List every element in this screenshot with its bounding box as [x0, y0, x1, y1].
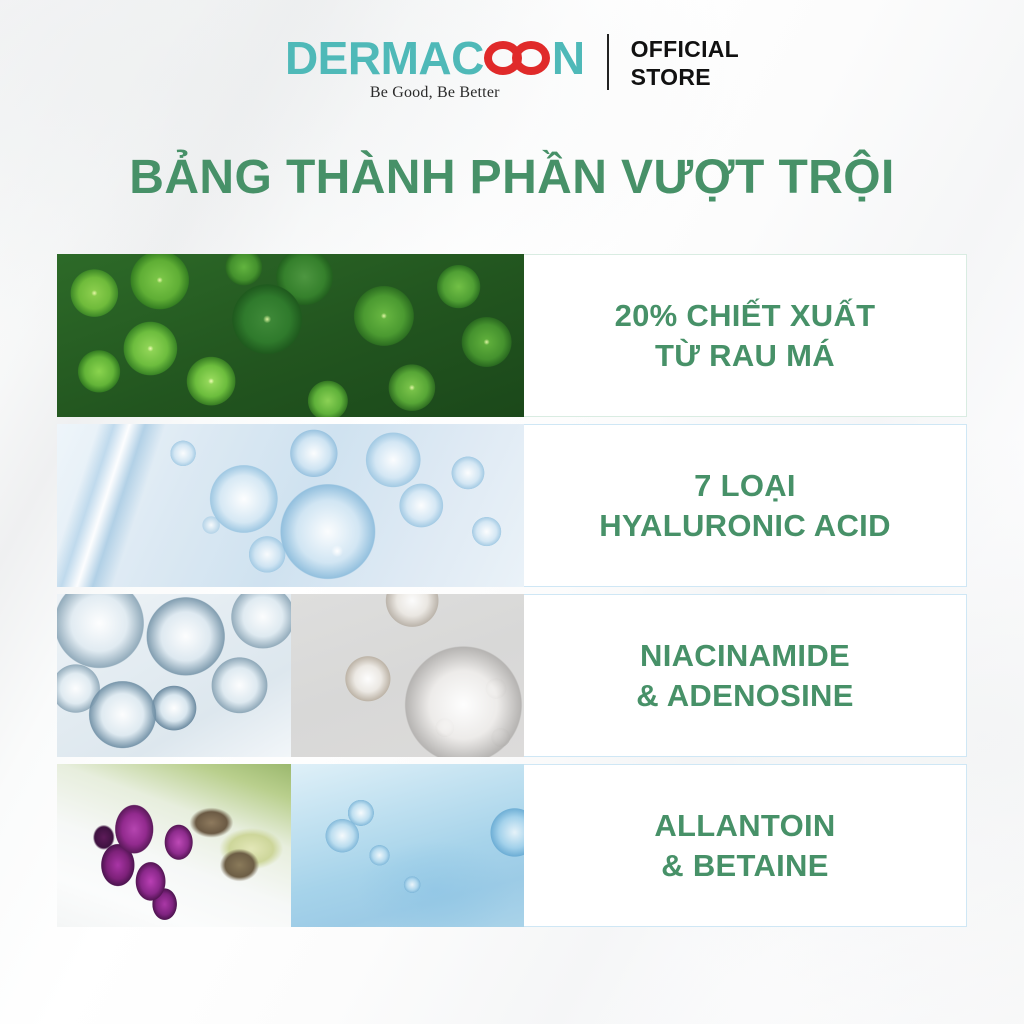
clear-bubbles-image — [57, 594, 291, 757]
ingredient-label-line2: TỪ RAU MÁ — [615, 336, 876, 375]
header-divider — [607, 34, 609, 90]
blue-liquid-image — [291, 764, 524, 927]
ingredient-label-text: NIACINAMIDE & ADENOSINE — [636, 636, 853, 715]
ingredient-label: ALLANTOIN & BETAINE — [524, 764, 967, 927]
ingredient-row-hyaluronic: 7 LOẠI HYALURONIC ACID — [57, 424, 967, 587]
brand-wordmark-part2: N — [552, 35, 585, 81]
ingredient-media — [57, 764, 524, 927]
brand-header: DERMAC N Be Good, Be Better OFFICIAL STO… — [0, 34, 1024, 102]
ingredient-label-line1: ALLANTOIN — [654, 806, 835, 845]
ingredient-row-niacinamide: NIACINAMIDE & ADENOSINE — [57, 594, 967, 757]
ingredient-label-line1: 7 LOẠI — [599, 466, 891, 505]
ingredient-label-line1: 20% CHIẾT XUẤT — [615, 296, 876, 335]
warm-gray-bubbles-image — [291, 594, 524, 757]
official-store-line1: OFFICIAL — [631, 35, 739, 63]
ingredient-label-text: 20% CHIẾT XUẤT TỪ RAU MÁ — [615, 296, 876, 375]
ingredient-label-line2: & ADENOSINE — [636, 676, 853, 715]
blue-bubbles-image — [57, 424, 524, 587]
comfrey-flowers-image — [57, 764, 291, 927]
ingredient-label-line1: NIACINAMIDE — [636, 636, 853, 675]
ingredient-label-text: ALLANTOIN & BETAINE — [654, 806, 835, 885]
page-title: BẢNG THÀNH PHẦN VƯỢT TRỘI — [0, 150, 1024, 205]
brand-double-o-icon — [484, 35, 552, 81]
brand-logo: DERMAC N Be Good, Be Better — [285, 35, 585, 102]
ingredient-label-line2: & BETAINE — [654, 846, 835, 885]
ingredient-label-text: 7 LOẠI HYALURONIC ACID — [599, 466, 891, 545]
ingredient-label: NIACINAMIDE & ADENOSINE — [524, 594, 967, 757]
ingredient-list: 20% CHIẾT XUẤT TỪ RAU MÁ 7 LOẠI HYALURON… — [57, 254, 967, 934]
ingredient-media — [57, 424, 524, 587]
ingredient-media — [57, 594, 524, 757]
brand-wordmark: DERMAC N — [285, 35, 585, 81]
brand-wordmark-part1: DERMAC — [285, 35, 484, 81]
ingredient-row-centella: 20% CHIẾT XUẤT TỪ RAU MÁ — [57, 254, 967, 417]
centella-leaves-image — [57, 254, 524, 417]
ingredient-label: 20% CHIẾT XUẤT TỪ RAU MÁ — [524, 254, 967, 417]
ingredient-label: 7 LOẠI HYALURONIC ACID — [524, 424, 967, 587]
ingredient-label-line2: HYALURONIC ACID — [599, 506, 891, 545]
ingredient-media — [57, 254, 524, 417]
official-store-line2: STORE — [631, 63, 739, 91]
brand-tagline: Be Good, Be Better — [370, 84, 500, 102]
infographic-page: DERMAC N Be Good, Be Better OFFICIAL STO… — [0, 0, 1024, 1024]
official-store-label: OFFICIAL STORE — [631, 35, 739, 91]
ingredient-row-allantoin: ALLANTOIN & BETAINE — [57, 764, 967, 927]
